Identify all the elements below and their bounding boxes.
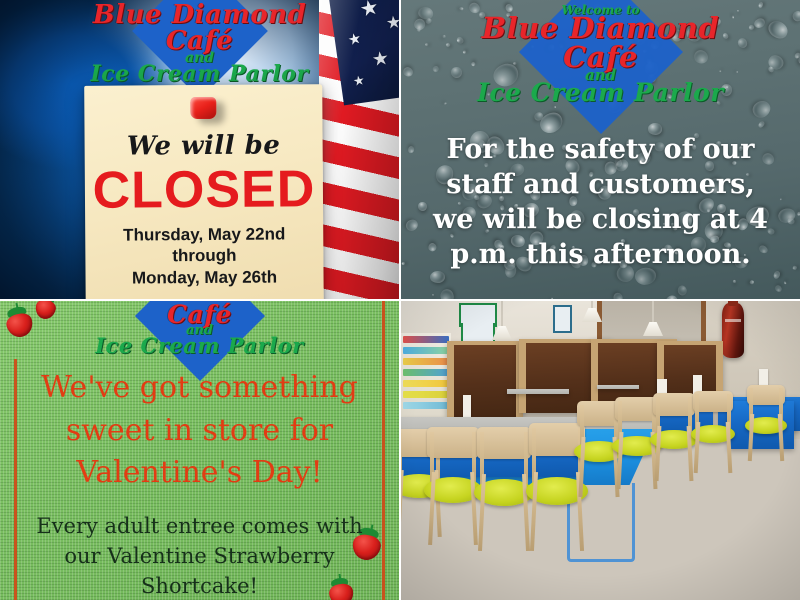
brand-line-1: Blue Diamond Café xyxy=(70,2,330,54)
water-droplet xyxy=(443,35,446,38)
water-droplet xyxy=(425,17,433,25)
flag-stripes xyxy=(319,0,399,299)
note-script-line: We will be xyxy=(85,130,323,162)
merchandise-display xyxy=(401,333,451,417)
water-droplet xyxy=(432,294,435,297)
brand-line-2: Ice Cream Parlor xyxy=(70,63,330,85)
water-droplet xyxy=(613,292,623,299)
panel-closed-notice: ★ ★ ★ ★ ★ Blue Diamond Café and Ice Crea… xyxy=(0,0,399,299)
panel-valentine-promo: Blue Diamond Café and Ice Cream Parlor W… xyxy=(0,301,399,600)
brand-line-2: Ice Cream Parlor xyxy=(65,335,335,356)
strawberry-icon xyxy=(3,304,35,339)
water-droplet xyxy=(438,288,455,299)
water-droplet xyxy=(784,281,787,284)
brand-line-2: Ice Cream Parlor xyxy=(451,80,751,105)
water-droplet xyxy=(411,17,427,33)
water-droplet xyxy=(732,280,736,283)
water-droplet xyxy=(750,280,755,285)
water-droplet xyxy=(454,298,460,299)
pendant-light xyxy=(591,301,593,309)
water-droplet xyxy=(765,17,791,42)
water-droplet xyxy=(663,293,679,299)
sticky-note-card: We will be CLOSED Thursday, May 22nd thr… xyxy=(84,84,324,299)
pendant-light xyxy=(652,301,654,323)
water-droplet xyxy=(677,285,689,298)
flag-star-icon: ★ xyxy=(371,49,391,70)
booth-divider xyxy=(447,341,523,417)
booth-table xyxy=(597,385,639,389)
water-droplet xyxy=(758,2,764,9)
flag-star-icon: ★ xyxy=(352,73,366,88)
social-post-collage: ★ ★ ★ ★ ★ Blue Diamond Café and Ice Crea… xyxy=(0,0,800,600)
strawberry-icon xyxy=(34,301,59,321)
note-headline: CLOSED xyxy=(85,163,323,218)
water-droplet xyxy=(425,42,429,46)
water-droplet xyxy=(432,65,440,73)
brand-logo: Blue Diamond Café and Ice Cream Parlor xyxy=(65,301,335,355)
booth-table xyxy=(507,389,569,394)
dining-chair xyxy=(477,427,531,551)
flag-star-icon: ★ xyxy=(346,31,363,49)
framed-picture xyxy=(553,305,572,333)
dining-chair xyxy=(653,393,695,481)
panel-dining-room-photo xyxy=(401,301,800,600)
water-droplet xyxy=(757,120,765,129)
american-flag-decoration: ★ ★ ★ ★ ★ xyxy=(319,0,399,299)
water-droplet xyxy=(753,17,766,30)
water-droplet xyxy=(552,298,554,299)
brand-line-1: Blue Diamond Café xyxy=(451,14,751,72)
dining-chair xyxy=(747,385,785,461)
water-droplet xyxy=(402,65,415,78)
flag-star-icon: ★ xyxy=(385,13,399,32)
note-dates: Thursday, May 22nd through Monday, May 2… xyxy=(85,223,323,289)
pendant-light xyxy=(501,301,503,327)
menu-caddy xyxy=(463,395,471,417)
note-date-line-2: through xyxy=(85,245,323,268)
note-date-line-3: Monday, May 26th xyxy=(85,266,323,289)
flag-star-icon: ★ xyxy=(358,0,381,21)
panel-early-close-notice: Welcome to Blue Diamond Café and Ice Cre… xyxy=(401,0,800,299)
brand-logo: Welcome to Blue Diamond Café and Ice Cre… xyxy=(451,4,751,96)
valentine-headline: We've got something sweet in store for V… xyxy=(0,367,399,495)
dining-chair xyxy=(693,391,733,473)
note-date-line-1: Thursday, May 22nd xyxy=(85,223,323,246)
water-droplet xyxy=(430,271,446,284)
water-droplet xyxy=(791,10,800,22)
water-droplet xyxy=(774,285,783,294)
early-close-message: For the safety of our staff and customer… xyxy=(401,132,800,272)
water-droplet xyxy=(750,97,774,120)
water-droplet xyxy=(443,102,446,105)
valentine-body: Every adult entree comes with our Valent… xyxy=(0,511,399,600)
coca-cola-bottle-sign xyxy=(722,303,744,358)
dining-chair xyxy=(427,427,479,545)
brand-logo: Blue Diamond Café and Ice Cream Parlor xyxy=(70,2,330,68)
flag-canton xyxy=(327,0,399,105)
